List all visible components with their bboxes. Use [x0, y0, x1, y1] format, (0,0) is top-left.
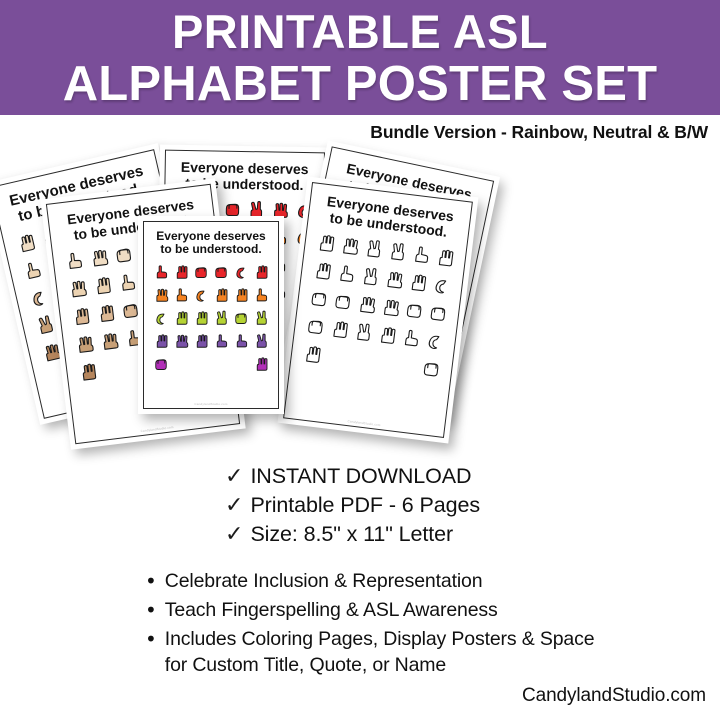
- asl-letter-cell: [426, 302, 451, 327]
- poster-credit: CandylandStudio.com: [284, 411, 444, 436]
- asl-hand-icon: [94, 303, 119, 328]
- asl-hand-icon: [232, 333, 250, 351]
- asl-hand-icon: [192, 333, 210, 351]
- poster-rainbow-front-center: Everyone deserves to be understood. Cand…: [138, 216, 284, 414]
- asl-letter-cell: [409, 244, 434, 269]
- asl-letter-cell: [429, 275, 454, 300]
- list-item: • Includes Coloring Pages, Display Poste…: [145, 626, 615, 678]
- asl-letter-cell: [172, 310, 190, 328]
- asl-hand-icon: [152, 333, 170, 351]
- check-icon: ✓: [225, 495, 243, 517]
- asl-hand-icon: [152, 356, 170, 374]
- feature-checklist: ✓ INSTANT DOWNLOAD ✓ Printable PDF - 6 P…: [225, 464, 625, 551]
- asl-hand-icon: [152, 264, 170, 282]
- asl-hand-icon: [90, 275, 115, 300]
- asl-letter-cell: [402, 299, 427, 324]
- asl-hand-icon: [69, 306, 94, 331]
- asl-letter-cell: [327, 319, 352, 344]
- asl-letter-cell: [76, 361, 101, 386]
- asl-letter-cell: [25, 285, 51, 311]
- asl-letter-cell: [405, 272, 430, 297]
- asl-hand-icon: [378, 297, 403, 322]
- asl-hand-icon: [212, 287, 230, 305]
- list-item: • Teach Fingerspelling & ASL Awareness: [145, 597, 615, 623]
- asl-hand-icon: [212, 333, 230, 351]
- asl-letter-cell: [192, 310, 210, 328]
- asl-hand-icon: [212, 310, 230, 328]
- asl-letter-cell: [111, 244, 136, 269]
- checklist-label: Size: 8.5" x 11" Letter: [250, 522, 453, 547]
- asl-hand-grid: [291, 231, 466, 384]
- asl-hand-icon: [252, 264, 270, 282]
- asl-hand-icon: [361, 238, 386, 263]
- asl-letter-cell: [232, 310, 250, 328]
- asl-letter-cell: [432, 247, 457, 272]
- asl-hand-icon: [172, 310, 190, 328]
- asl-hand-icon: [330, 291, 355, 316]
- asl-letter-cell: [330, 291, 355, 316]
- asl-hand-grid: [144, 264, 278, 374]
- asl-letter-cell: [378, 297, 403, 322]
- asl-letter-cell: [192, 264, 210, 282]
- bullet-label: Includes Coloring Pages, Display Posters…: [165, 626, 615, 678]
- asl-hand-icon: [172, 287, 190, 305]
- asl-letter-cell: [334, 263, 359, 288]
- asl-letter-cell: [232, 287, 250, 305]
- asl-letter-cell: [172, 264, 190, 282]
- checklist-label: INSTANT DOWNLOAD: [250, 464, 471, 489]
- asl-hand-icon: [212, 264, 230, 282]
- asl-letter-cell: [307, 288, 332, 313]
- asl-hand-icon: [432, 247, 457, 272]
- asl-letter-cell: [232, 333, 250, 351]
- asl-letter-cell: [351, 321, 376, 346]
- asl-letter-cell: [303, 316, 328, 341]
- header-banner: PRINTABLE ASL ALPHABET POSTER SET: [0, 0, 720, 115]
- asl-letter-cell: [252, 287, 270, 305]
- asl-hand-icon: [192, 287, 210, 305]
- asl-hand-icon: [232, 264, 250, 282]
- asl-letter-cell: [66, 278, 91, 303]
- page-title-line-1: PRINTABLE ASL: [172, 8, 548, 55]
- asl-hand-icon: [354, 294, 379, 319]
- asl-letter-cell: [212, 310, 230, 328]
- asl-hand-icon: [252, 310, 270, 328]
- checklist-label: Printable PDF - 6 Pages: [250, 493, 480, 518]
- bullet-icon: •: [145, 568, 157, 594]
- bullet-icon: •: [145, 626, 157, 652]
- asl-letter-cell: [19, 258, 45, 284]
- asl-letter-cell: [232, 264, 250, 282]
- bundle-version-subtitle: Bundle Version - Rainbow, Neutral & B/W: [370, 122, 708, 143]
- asl-hand-icon: [337, 235, 362, 260]
- list-item: • Celebrate Inclusion & Representation: [145, 568, 615, 594]
- asl-hand-icon: [405, 272, 430, 297]
- asl-letter-cell: [419, 358, 444, 383]
- asl-hand-icon: [334, 263, 359, 288]
- bullet-label: Celebrate Inclusion & Representation: [165, 568, 483, 594]
- asl-letter-cell: [252, 356, 270, 374]
- asl-hand-icon: [172, 333, 190, 351]
- asl-letter-cell: [115, 272, 140, 297]
- asl-hand-icon: [398, 327, 423, 352]
- asl-hand-icon: [87, 247, 112, 272]
- asl-hand-icon: [115, 272, 140, 297]
- asl-hand-icon: [97, 330, 122, 355]
- list-item: ✓ Printable PDF - 6 Pages: [225, 493, 625, 518]
- asl-hand-icon: [12, 231, 38, 257]
- asl-letter-cell: [152, 356, 170, 374]
- asl-hand-icon: [72, 333, 97, 358]
- asl-hand-icon: [232, 287, 250, 305]
- asl-letter-cell: [152, 333, 170, 351]
- asl-letter-cell: [172, 287, 190, 305]
- asl-hand-icon: [381, 269, 406, 294]
- poster-credit: CandylandStudio.com: [76, 417, 240, 443]
- asl-letter-cell: [152, 287, 170, 305]
- asl-letter-cell: [212, 287, 230, 305]
- asl-letter-cell: [361, 238, 386, 263]
- asl-letter-cell: [192, 333, 210, 351]
- asl-letter-cell: [94, 303, 119, 328]
- asl-hand-icon: [192, 264, 210, 282]
- list-item: ✓ INSTANT DOWNLOAD: [225, 464, 625, 489]
- asl-hand-icon: [252, 287, 270, 305]
- page-title-line-2: ALPHABET POSTER SET: [63, 60, 658, 109]
- asl-hand-icon: [429, 275, 454, 300]
- asl-hand-icon: [313, 232, 338, 257]
- asl-letter-cell: [62, 250, 87, 275]
- asl-letter-cell: [300, 343, 325, 368]
- asl-hand-icon: [385, 241, 410, 266]
- poster-bw-mid-right: Everyone deserves to be understood. Cand…: [278, 176, 479, 443]
- asl-letter-cell: [337, 235, 362, 260]
- asl-letter-cell: [212, 264, 230, 282]
- asl-letter-cell: [252, 333, 270, 351]
- asl-hand-icon: [402, 299, 427, 324]
- asl-hand-icon: [232, 310, 250, 328]
- asl-letter-cell: [192, 287, 210, 305]
- asl-hand-icon: [300, 343, 325, 368]
- asl-letter-cell: [152, 310, 170, 328]
- asl-letter-cell: [358, 266, 383, 291]
- bullet-label: Teach Fingerspelling & ASL Awareness: [165, 597, 498, 623]
- asl-letter-cell: [381, 269, 406, 294]
- brand-footer: CandylandStudio.com: [522, 685, 706, 707]
- asl-hand-icon: [419, 358, 444, 383]
- asl-hand-icon: [252, 356, 270, 374]
- asl-hand-icon: [252, 333, 270, 351]
- check-icon: ✓: [225, 524, 243, 546]
- asl-letter-cell: [354, 294, 379, 319]
- asl-letter-cell: [310, 260, 335, 285]
- asl-letter-cell: [69, 306, 94, 331]
- asl-hand-icon: [25, 285, 51, 311]
- asl-hand-icon: [409, 244, 434, 269]
- poster-quote: Everyone deserves to be understood.: [144, 222, 278, 264]
- asl-letter-cell: [97, 330, 122, 355]
- asl-letter-cell: [152, 264, 170, 282]
- asl-hand-icon: [111, 244, 136, 269]
- poster-mockup-stage: Everyone deserves to be understood. Cand…: [0, 148, 720, 458]
- asl-letter-cell: [313, 232, 338, 257]
- asl-letter-cell: [87, 247, 112, 272]
- poster-credit: CandylandStudio.com: [144, 402, 278, 408]
- asl-letter-cell: [422, 330, 447, 355]
- asl-hand-icon: [19, 258, 45, 284]
- asl-letter-cell: [90, 275, 115, 300]
- asl-hand-icon: [152, 310, 170, 328]
- asl-letter-cell: [398, 327, 423, 352]
- asl-letter-cell: [375, 324, 400, 349]
- asl-hand-icon: [310, 260, 335, 285]
- asl-hand-icon: [303, 316, 328, 341]
- asl-letter-cell: [385, 241, 410, 266]
- asl-hand-icon: [76, 361, 101, 386]
- asl-hand-icon: [327, 319, 352, 344]
- asl-letter-cell: [212, 333, 230, 351]
- asl-hand-icon: [358, 266, 383, 291]
- asl-hand-icon: [66, 278, 91, 303]
- asl-letter-cell: [172, 333, 190, 351]
- asl-hand-icon: [375, 324, 400, 349]
- asl-hand-icon: [152, 287, 170, 305]
- asl-letter-cell: [72, 333, 97, 358]
- asl-letter-cell: [252, 264, 270, 282]
- asl-hand-icon: [192, 310, 210, 328]
- asl-hand-icon: [62, 250, 87, 275]
- asl-hand-icon: [426, 302, 451, 327]
- list-item: ✓ Size: 8.5" x 11" Letter: [225, 522, 625, 547]
- asl-hand-icon: [422, 330, 447, 355]
- feature-bullet-list: • Celebrate Inclusion & Representation •…: [145, 568, 615, 681]
- asl-letter-cell: [12, 231, 38, 257]
- bullet-icon: •: [145, 597, 157, 623]
- check-icon: ✓: [225, 466, 243, 488]
- asl-hand-icon: [172, 264, 190, 282]
- asl-hand-icon: [307, 288, 332, 313]
- asl-letter-cell: [252, 310, 270, 328]
- asl-hand-icon: [351, 321, 376, 346]
